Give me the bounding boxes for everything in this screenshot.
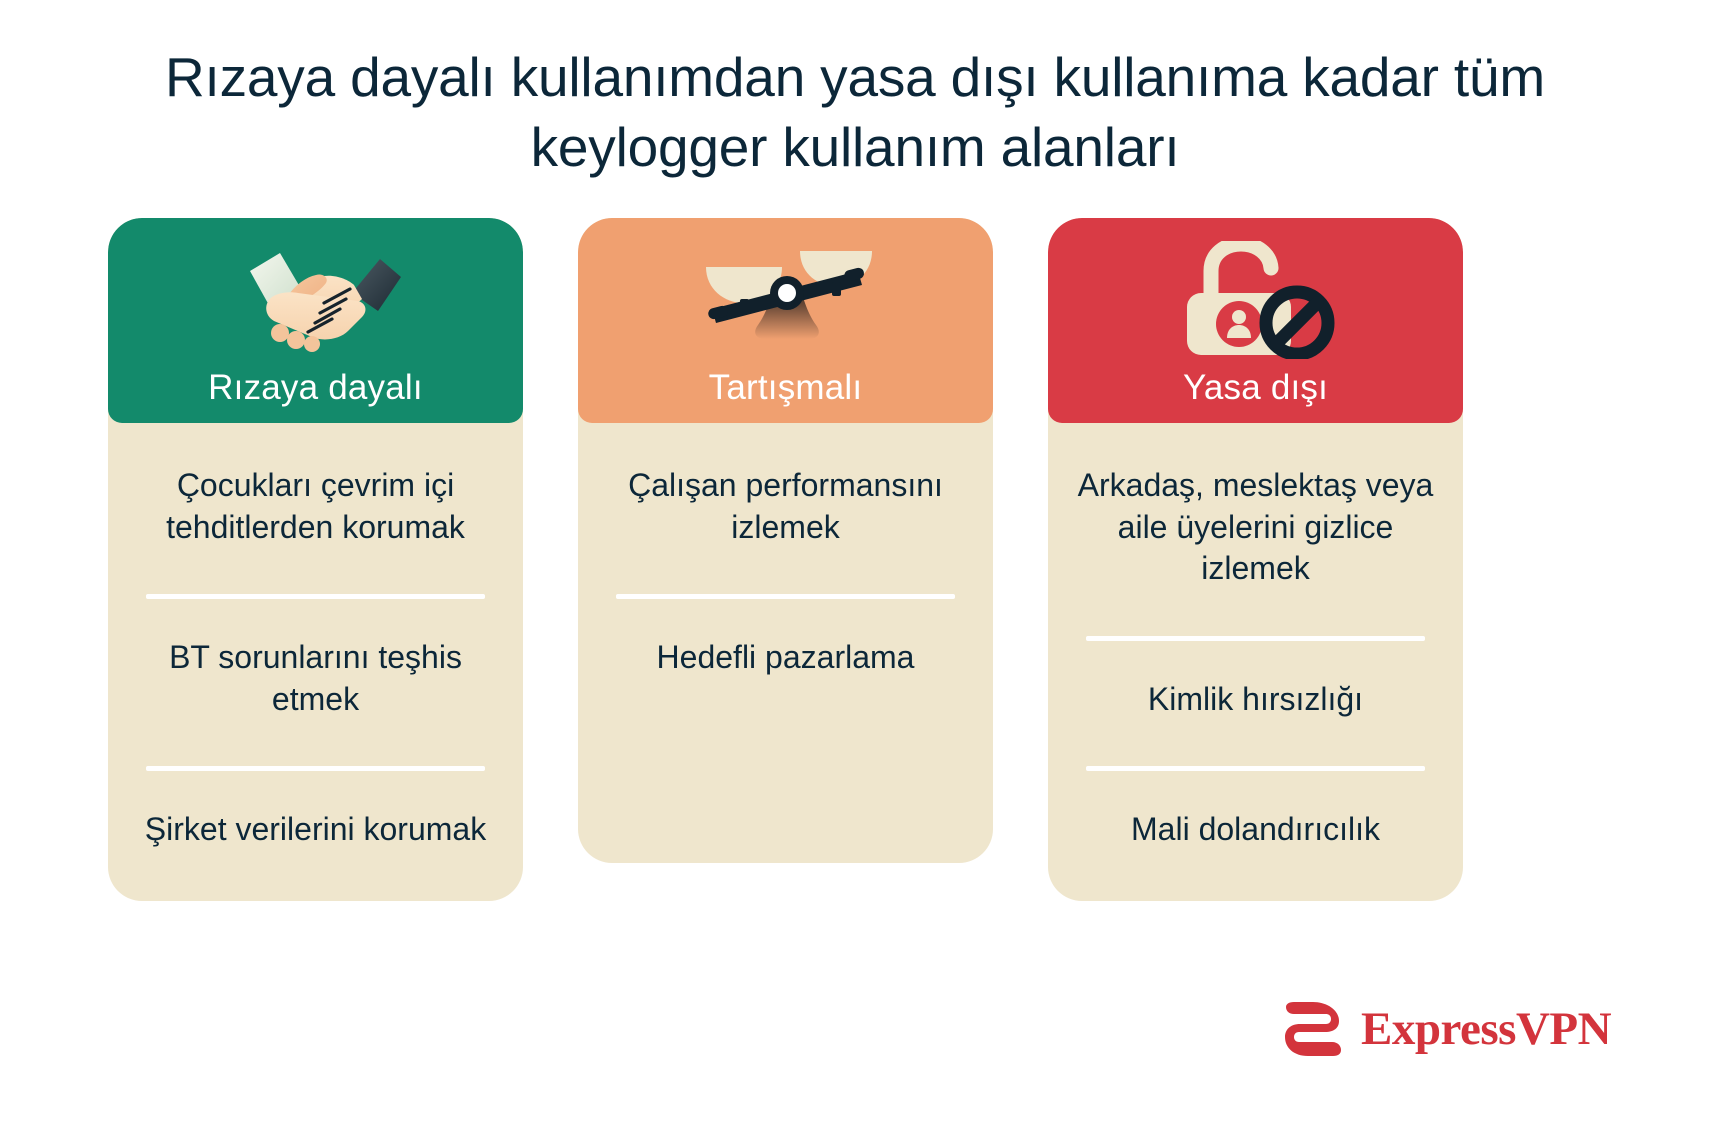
- item-divider: [146, 766, 485, 771]
- card-contentious-title: Tartışmalı: [709, 370, 863, 405]
- page-title: Rızaya dayalı kullanımdan yasa dışı kull…: [120, 42, 1590, 183]
- handshake-icon: [221, 240, 411, 360]
- list-item: Arkadaş, meslektaş veya aile üyelerini g…: [1070, 457, 1441, 600]
- expressvpn-e-mark-icon: [1283, 1000, 1345, 1058]
- expressvpn-wordmark: ExpressVPN: [1361, 1006, 1611, 1053]
- card-contentious-body: Çalışan performansını izlemek Hedefli pa…: [578, 423, 993, 863]
- list-item: BT sorunlarını teşhis etmek: [130, 629, 501, 730]
- card-illegal-header: Yasa dışı: [1048, 218, 1463, 423]
- infographic-page: Rızaya dayalı kullanımdan yasa dışı kull…: [0, 0, 1709, 1121]
- card-illegal: Yasa dışı Arkadaş, meslektaş veya aile ü…: [1048, 218, 1463, 901]
- card-consensual-title: Rızaya dayalı: [208, 370, 423, 405]
- list-item: Mali dolandırıcılık: [1070, 801, 1441, 861]
- item-divider: [146, 594, 485, 599]
- category-cards: Rızaya dayalı Çocukları çevrim içi tehdi…: [108, 218, 1463, 901]
- card-contentious-header: Tartışmalı: [578, 218, 993, 423]
- item-divider: [616, 594, 955, 599]
- list-item: Çalışan performansını izlemek: [600, 457, 971, 558]
- card-contentious: Tartışmalı Çalışan performansını izlemek…: [578, 218, 993, 863]
- card-illegal-body: Arkadaş, meslektaş veya aile üyelerini g…: [1048, 423, 1463, 901]
- item-divider: [1086, 636, 1425, 641]
- list-item: Kimlik hırsızlığı: [1070, 671, 1441, 731]
- card-consensual-header: Rızaya dayalı: [108, 218, 523, 423]
- list-item: Şirket verilerini korumak: [130, 801, 501, 861]
- item-divider: [1086, 766, 1425, 771]
- card-consensual-body: Çocukları çevrim içi tehditlerden koruma…: [108, 423, 523, 901]
- unlocked-padlock-prohibited-icon: [1161, 240, 1351, 360]
- card-illegal-title: Yasa dışı: [1183, 370, 1328, 405]
- card-consensual: Rızaya dayalı Çocukları çevrim içi tehdi…: [108, 218, 523, 901]
- balance-scale-icon: [691, 240, 881, 360]
- list-item: Hedefli pazarlama: [600, 629, 971, 689]
- expressvpn-logo: ExpressVPN: [1283, 1000, 1611, 1058]
- list-item: Çocukları çevrim içi tehditlerden koruma…: [130, 457, 501, 558]
